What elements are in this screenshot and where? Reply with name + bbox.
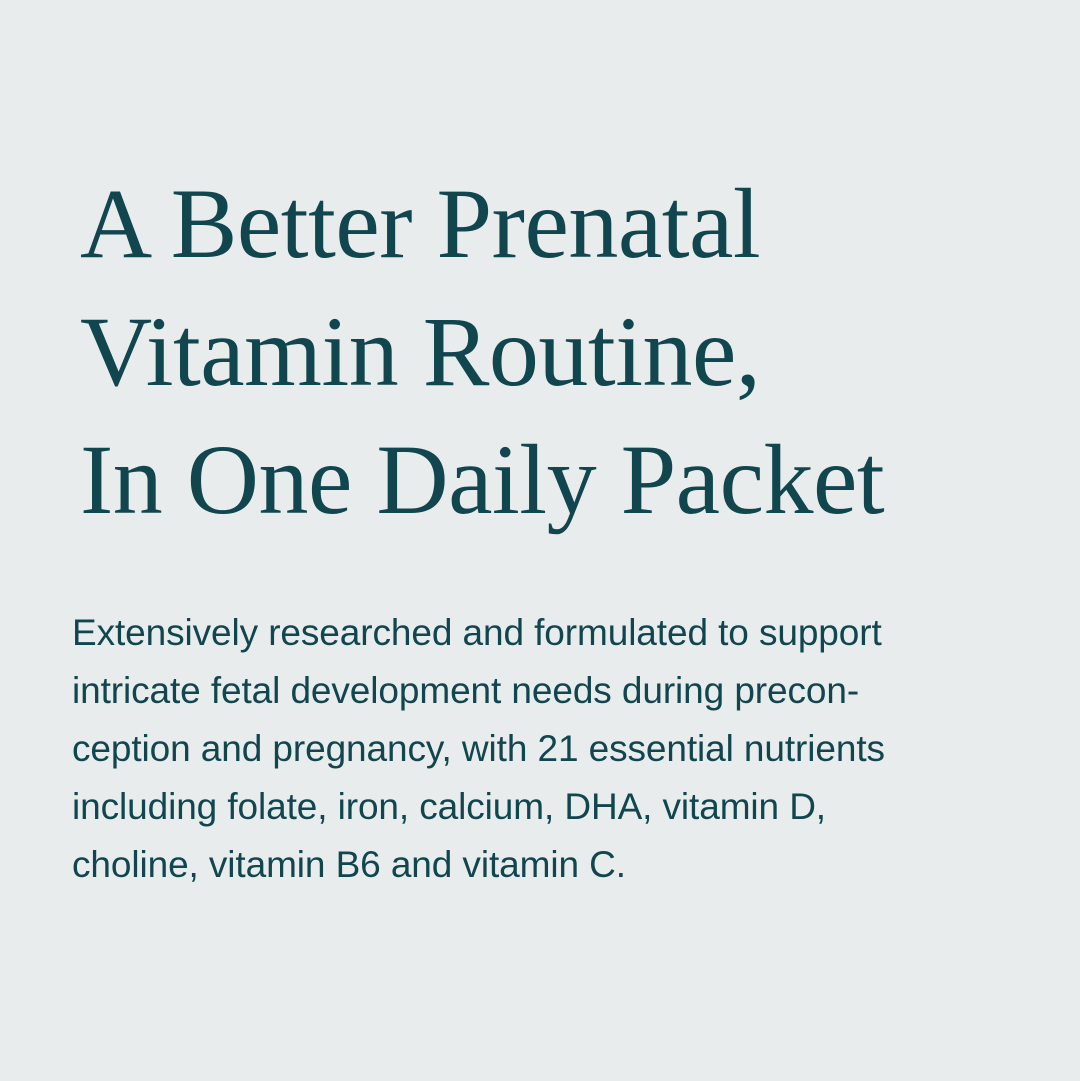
body-description: Extensively researched and formulated to… bbox=[72, 604, 1012, 894]
promo-card: A Better Prenatal Vitamin Routine, In On… bbox=[0, 0, 1080, 1081]
body-line-5: choline, vitamin B6 and vitamin C. bbox=[72, 836, 1012, 894]
headline-line-1: A Better Prenatal bbox=[80, 160, 1000, 288]
page-title: A Better Prenatal Vitamin Routine, In On… bbox=[80, 160, 1000, 544]
body-line-3: ception and pregnancy, with 21 essential… bbox=[72, 720, 1012, 778]
headline-line-2: Vitamin Routine, bbox=[80, 288, 1000, 416]
body-line-1: Extensively researched and formulated to… bbox=[72, 604, 1012, 662]
body-line-2: intricate fetal development needs during… bbox=[72, 662, 1012, 720]
body-line-4: including folate, iron, calcium, DHA, vi… bbox=[72, 778, 1012, 836]
headline-line-3: In One Daily Packet bbox=[80, 416, 1000, 544]
